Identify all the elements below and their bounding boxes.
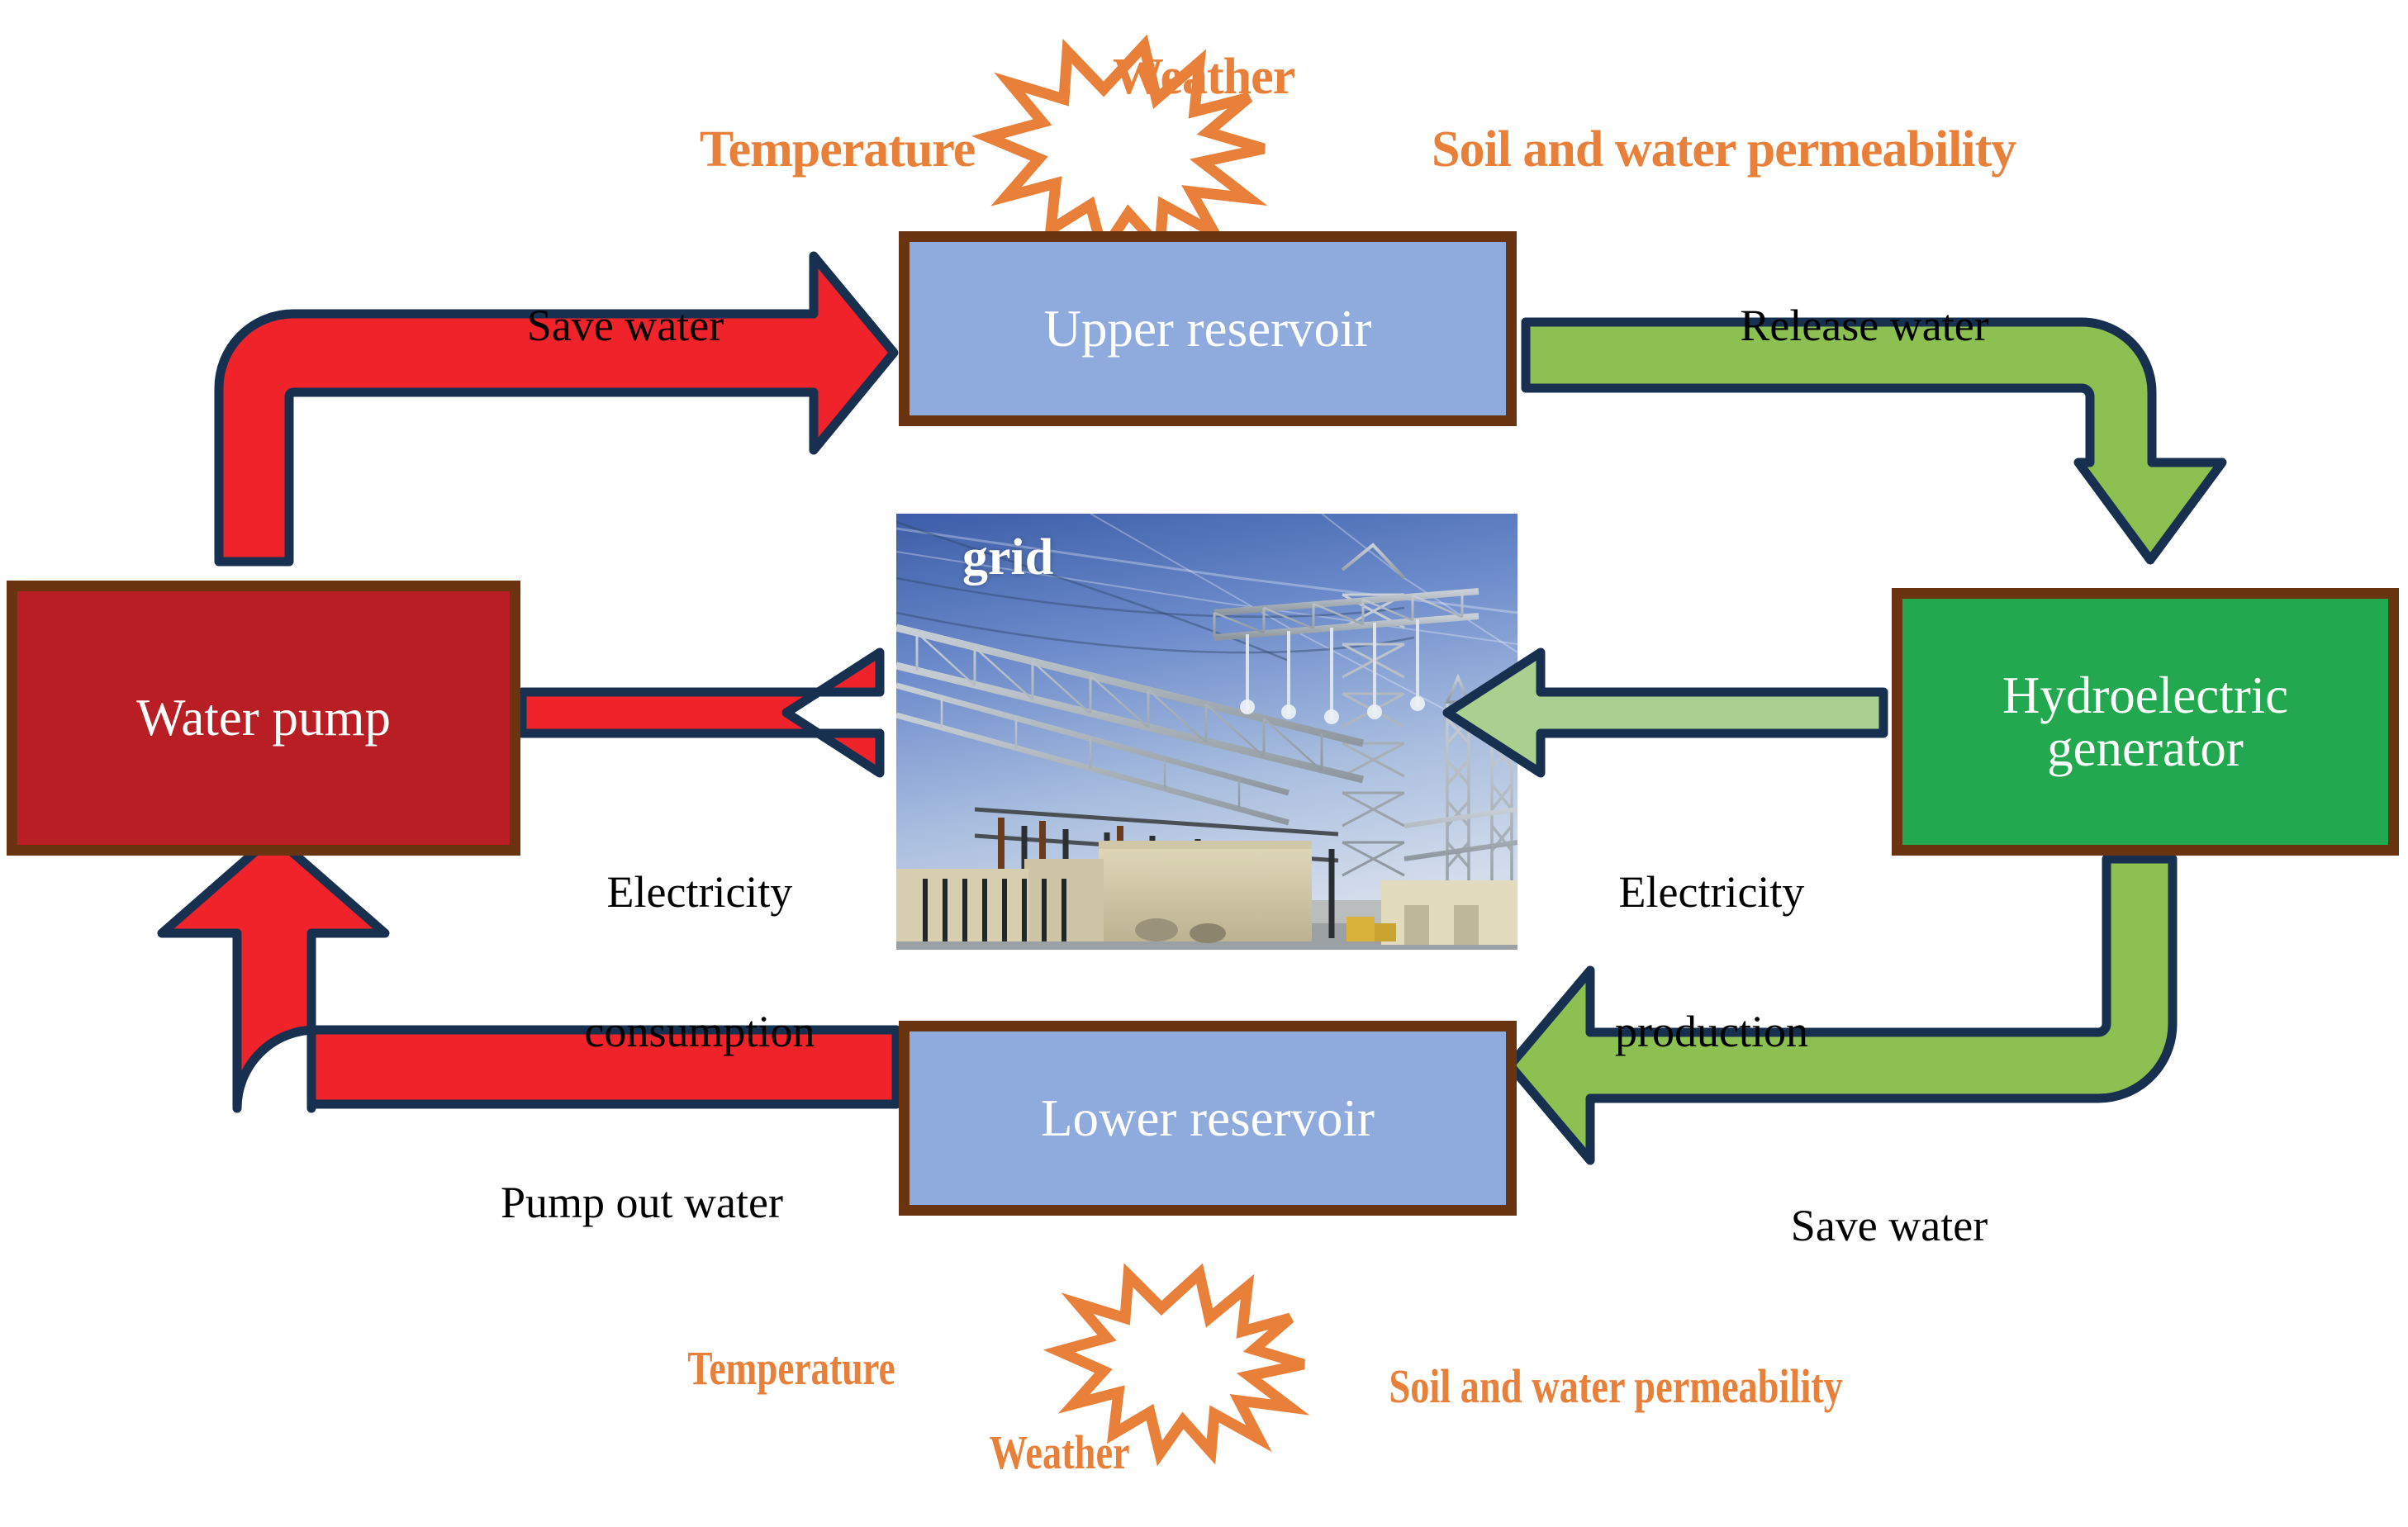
factor-label-weather-top: Weather [1066,0,1294,154]
flow-label-electricity-consumption: Electricity consumption [514,776,886,1147]
factor-label-weather-bottom: Weather [952,1381,1130,1525]
flow-label-save-water-top: Save water [430,256,777,395]
flow-label-electricity-production-line2: production [1538,1008,1885,1055]
factor-label-temperature-top: Temperature [653,73,975,226]
node-label-upper-reservoir: Upper reservoir [910,302,1506,355]
flow-label-electricity-consumption-line2: consumption [514,1008,886,1055]
node-label-hydroelectric-generator-line2: generator [1902,722,2388,775]
node-label-water-pump: Water pump [17,691,510,744]
flow-label-release-water: Release water [1627,256,2057,395]
grid-image-caption: grid [962,529,1053,587]
flow-label-electricity-consumption-line1: Electricity [514,869,886,915]
node-label-lower-reservoir: Lower reservoir [910,1092,1506,1145]
factor-label-soil-water-permeability-bottom: Soil and water permeability [1351,1315,1843,1458]
flow-arrow-electricity-production [1447,652,1883,773]
flow-arrow-electricity-consumption [522,652,880,773]
node-hydroelectric-generator[interactable]: Hydroelectric generator [1892,588,2399,856]
node-label-hydroelectric-generator-line1: Hydroelectric [1902,669,2388,722]
diagram-canvas: Upper reservoir Hydroelectric generator … [0,0,2408,1452]
factor-label-soil-water-permeability-top: Soil and water permeability [1384,73,2016,226]
flow-label-pump-out-water: Pump out water [372,1133,867,1272]
flow-label-electricity-production: Electricity production [1538,776,1885,1147]
node-lower-reservoir[interactable]: Lower reservoir [899,1021,1517,1216]
node-upper-reservoir[interactable]: Upper reservoir [899,231,1517,426]
flow-label-electricity-production-line1: Electricity [1538,869,1885,915]
node-water-pump[interactable]: Water pump [7,581,520,856]
flow-label-save-water-bottom: Save water [1693,1156,2040,1295]
factor-label-temperature-bottom: Temperature [651,1297,895,1440]
